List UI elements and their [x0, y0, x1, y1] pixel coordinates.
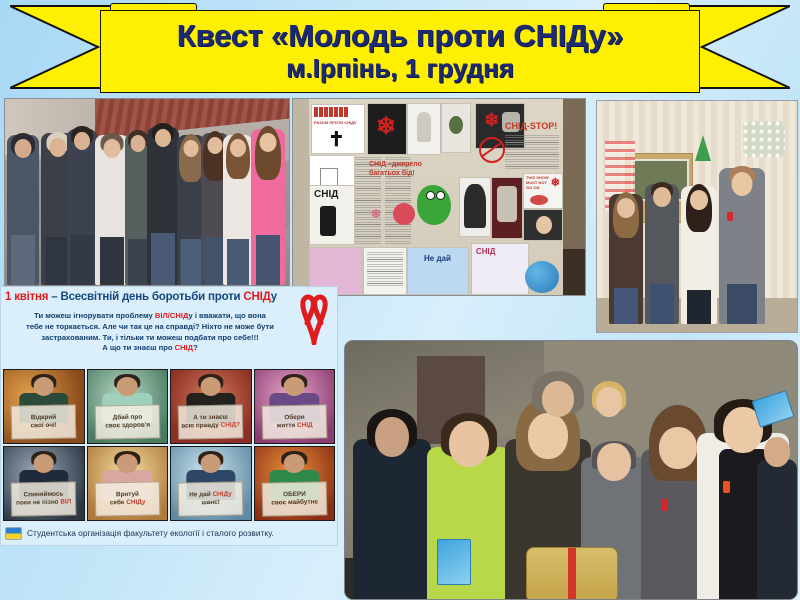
legs: [71, 235, 94, 285]
donation-box: [526, 547, 618, 600]
head: [15, 139, 32, 158]
head: [732, 172, 753, 196]
sign-line-1: Обери: [284, 414, 304, 421]
aids-ribbon-icon: [295, 293, 333, 345]
person-figure: [681, 186, 717, 324]
head: [617, 198, 635, 218]
green-arrow-decor: [695, 135, 711, 161]
head: [653, 187, 671, 207]
sign-line-2: себе: [109, 499, 124, 506]
body-line-2: тебе не торкається. Але чи так це на спр…: [7, 322, 293, 333]
head: [49, 138, 66, 157]
leaflet-brochure: [437, 539, 471, 585]
person-figure: [719, 168, 765, 324]
head: [764, 437, 790, 467]
exhibit-poster: [491, 177, 523, 239]
heading-date: 1 квітня: [5, 291, 48, 303]
exhibit-poster: [441, 103, 471, 153]
sign-photo-cell[interactable]: А ти знаєшвсю правду СНІД?: [170, 369, 252, 444]
head: [104, 139, 121, 158]
person-figure: [251, 129, 285, 285]
exhibit-poster: [523, 209, 563, 241]
head: [230, 139, 246, 157]
head: [131, 135, 146, 152]
presentation-slide: Квест «Молодь проти СНІДу» м.Ірпінь, 1 г…: [0, 0, 800, 600]
sign-photo-cell[interactable]: Дбай просвоє здоров'я: [87, 369, 169, 444]
head: [659, 427, 697, 469]
head: [542, 381, 574, 417]
aids-ribbon-icon: ❄: [371, 207, 381, 221]
person-figure: [757, 429, 797, 599]
legs: [650, 284, 674, 324]
handwritten-sign: Оберижиття СНІД: [261, 404, 327, 439]
exhibit-poster: [459, 177, 491, 237]
person-figure: [147, 127, 179, 285]
handwritten-sign: Спиняймосьпоки не пізно ВІЛ: [11, 481, 77, 516]
head: [284, 377, 305, 396]
sign-photo-grid: Відкрийсвої очі! Дбай просвоє здоров'я А…: [3, 369, 335, 521]
sign-line-2: всю правду: [181, 422, 219, 430]
head: [33, 454, 54, 473]
exhibit-poster: РАЗОМ ПРОТИ СНІДУ ✝: [311, 104, 365, 154]
head: [690, 190, 708, 210]
poster-caption: СНІД: [476, 247, 495, 256]
person-figure: [353, 399, 431, 599]
sign-highlight: ВІЛ: [60, 498, 71, 505]
head: [208, 137, 223, 154]
head: [200, 454, 221, 473]
legs: [614, 288, 638, 324]
heading-aids-word: СНІД: [243, 291, 270, 303]
handwritten-sign: Дбай просвоє здоров'я: [94, 404, 160, 439]
aids-ribbon-icon: ❄: [551, 176, 560, 189]
green-virus-mascot: [417, 185, 451, 225]
board-left-edge: [293, 99, 309, 295]
sign-highlight: СНІД?: [221, 421, 241, 428]
body-question-a: А що ти знаєш про: [102, 343, 174, 352]
torso: [353, 439, 431, 599]
body-hiv-aids: ВІЛ/СНІД: [155, 311, 189, 320]
aids-infographic-panel[interactable]: 1 квітня – Всесвітній день боротьби прот…: [0, 286, 338, 546]
wall-decoration: [743, 121, 785, 157]
floor-strip: [563, 249, 585, 295]
head: [74, 132, 90, 150]
person-figure: [427, 393, 511, 599]
handwritten-sign: ОБЕРИсвоє майбутнє: [261, 481, 327, 516]
title-ribbon: Квест «Молодь проти СНІДу» м.Ірпінь, 1 г…: [0, 0, 800, 100]
sign-line-1: ОБЕРИ: [283, 491, 306, 498]
sign-photo-cell[interactable]: Врятуйсебе СНІДу: [87, 446, 169, 521]
slide-title-line1: Квест «Молодь проти СНІДу»: [177, 20, 623, 53]
red-ribbon-badge: [661, 499, 668, 511]
footer-caption: Студентська організація факультету еколо…: [27, 528, 274, 538]
exhibit-poster: [363, 247, 407, 295]
body-text-a: Ти можеш ігнорувати проблему: [34, 311, 155, 320]
ukraine-flag-icon: [5, 527, 22, 540]
head: [117, 454, 138, 473]
poster-headline: СНІД –джерело багатьох бід!: [369, 161, 445, 179]
body-line-4: А що ти знаєш про СНІД?: [7, 343, 293, 354]
no-aids-sign-icon: [479, 137, 505, 163]
sign-photo-cell[interactable]: Оберижиття СНІД: [254, 369, 336, 444]
head: [260, 133, 277, 152]
outdoor-group-photo[interactable]: [4, 98, 290, 290]
infographic-heading: 1 квітня – Всесвітній день боротьби прот…: [5, 291, 291, 303]
head: [184, 140, 199, 157]
handwritten-sign: Врятуйсебе СНІДу: [94, 481, 160, 516]
infographic-body: Ти можеш ігнорувати проблему ВІЛ/СНІДу і…: [7, 311, 293, 354]
sign-line-3: майбутнє: [287, 498, 317, 506]
red-ribbon-badge: [723, 481, 730, 493]
sign-line-2: свої очі!: [31, 422, 57, 430]
exhibit-poster: ❄: [367, 103, 407, 155]
aids-ribbon-icon: ✝: [328, 127, 345, 152]
legs: [687, 290, 711, 324]
heading-rest: Всесвітній день боротьби проти: [61, 291, 244, 303]
head: [375, 417, 409, 457]
body-question-aids: СНІД: [175, 343, 194, 352]
handwritten-sign: Відкрийсвої очі!: [11, 404, 77, 439]
body-text-b: у і вважати, що вона: [188, 311, 265, 320]
poster-caption: THIS SHOW MUST NOT GO ON: [526, 176, 550, 190]
mascot-eye: [426, 191, 435, 200]
body-line-3: застрахованим. Ти, і тільки ти можеш под…: [7, 333, 293, 344]
sign-highlight: СНІД: [297, 421, 313, 428]
heading-suffix: у: [271, 291, 277, 303]
poster-exhibition-photo[interactable]: РАЗОМ ПРОТИ СНІДУ ✝ ❄ ❄ СНІД-STOP! СНІД …: [292, 98, 586, 296]
head: [449, 421, 489, 467]
person-figure: [95, 135, 129, 285]
poster-text-lines: [367, 252, 403, 288]
sign-line-2: життя: [276, 422, 295, 429]
torso: [757, 459, 797, 599]
legs: [151, 233, 175, 285]
poster-caption: СНІД: [314, 189, 338, 200]
exhibit-poster: [407, 103, 441, 155]
legs: [100, 237, 124, 285]
legs: [128, 239, 148, 285]
indoor-group-photo[interactable]: [596, 100, 798, 333]
legs: [181, 239, 202, 285]
person-figure: [7, 135, 39, 285]
legs: [11, 235, 35, 285]
exhibit-poster: THIS SHOW MUST NOT GO ON ❄: [523, 173, 563, 209]
head: [155, 129, 171, 147]
handwritten-sign: А ти знаєшвсю правду СНІД?: [178, 404, 244, 439]
legs: [727, 284, 757, 324]
globe-illustration: [525, 261, 559, 293]
sign-highlight: СНІДу: [126, 498, 145, 505]
sign-photo-cell[interactable]: Відкрийсвої очі!: [3, 369, 85, 444]
head: [284, 454, 305, 473]
sign-line-2: своє здоров'я: [105, 421, 150, 429]
poster-caption: РАЗОМ ПРОТИ СНІДУ: [314, 120, 357, 125]
poster-caption: Не дай: [424, 254, 451, 263]
students-crowd-photo[interactable]: [344, 340, 798, 600]
head: [200, 377, 221, 396]
mascot-eye: [436, 191, 445, 200]
sign-highlight: СНІДу: [213, 491, 232, 498]
aids-ribbon-icon: ❄: [376, 112, 396, 141]
sign-line-1: Спиняймось: [24, 491, 64, 499]
poster-text-lines: [505, 135, 559, 169]
aids-ribbon-icon: ❄: [484, 110, 499, 131]
sign-line-2: поки не пізно: [16, 499, 59, 507]
red-ribbon-badge: [727, 212, 733, 221]
sign-line-3: шанс!: [202, 499, 221, 506]
person-figure: [645, 184, 679, 324]
sign-line-2: своє: [271, 499, 286, 506]
slide-title-line2: м.Ірпінь, 1 грудня: [286, 54, 514, 83]
sign-photo-cell[interactable]: Не дай СНІДушанс!: [170, 446, 252, 521]
heading-dash: –: [48, 291, 60, 303]
body-line-1: Ти можеш ігнорувати проблему ВІЛ/СНІДу і…: [7, 311, 293, 322]
exhibit-poster: СНІД: [471, 243, 529, 295]
person-figure: [223, 135, 253, 285]
handwritten-sign: Не дай СНІДушанс!: [178, 481, 244, 516]
exhibit-poster: СНІД: [309, 185, 355, 245]
infographic-footer: Студентська організація факультету еколо…: [5, 525, 333, 541]
red-blob-character: [393, 203, 415, 225]
sign-line-1: Врятуй: [116, 491, 139, 498]
sign-photo-cell[interactable]: ОБЕРИсвоє майбутнє: [254, 446, 336, 521]
person-figure: [609, 194, 643, 324]
body-question-b: ?: [193, 343, 198, 352]
poster-title-stop: СНІД-STOP!: [505, 121, 557, 131]
title-banner: Квест «Молодь проти СНІДу» м.Ірпінь, 1 г…: [100, 10, 700, 93]
legs: [256, 235, 280, 285]
sign-line-1: Не дай: [189, 491, 211, 498]
head: [117, 377, 138, 396]
sign-photo-cell[interactable]: Спиняймосьпоки не пізно ВІЛ: [3, 446, 85, 521]
person-figure: [67, 129, 97, 285]
head: [33, 377, 54, 396]
leaflet-brochure: [752, 390, 795, 428]
legs: [227, 239, 249, 285]
exhibit-poster: Не дай: [407, 247, 469, 295]
head: [596, 387, 622, 417]
